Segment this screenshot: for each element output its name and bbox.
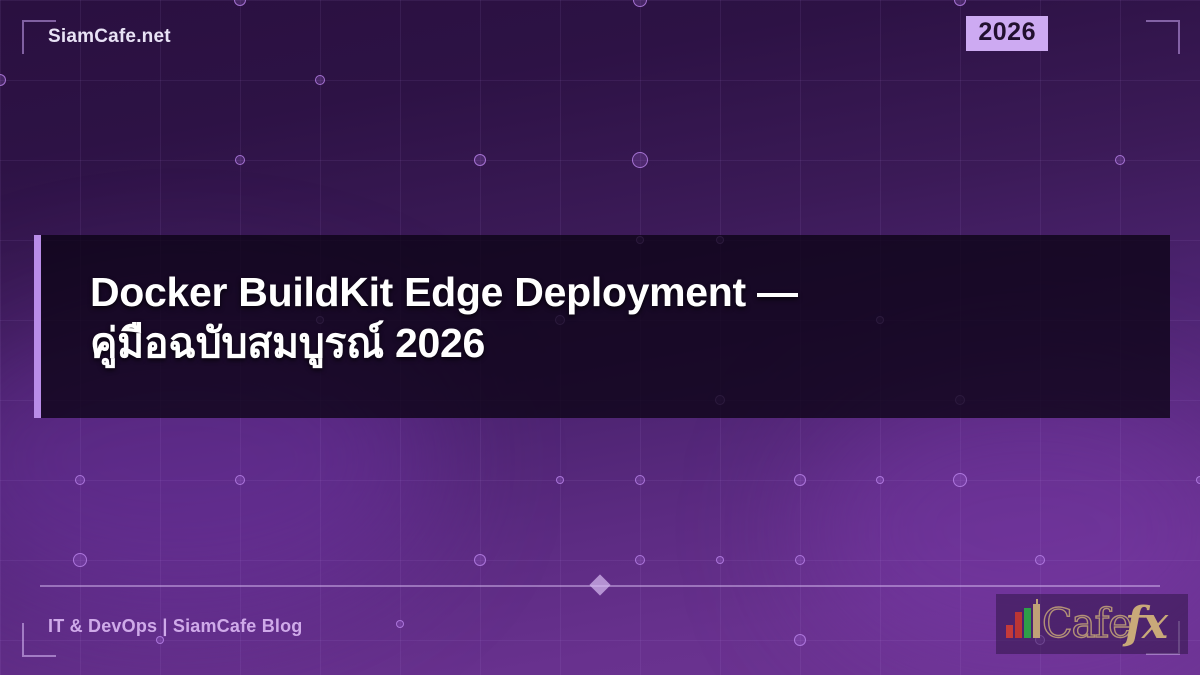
page-title: Docker BuildKit Edge Deployment — คู่มือ…: [90, 267, 1150, 370]
decor-dot: [635, 475, 645, 485]
diamond-marker-icon: [589, 574, 610, 595]
decor-dot: [1035, 555, 1045, 565]
candle-bar-gold: [1033, 604, 1040, 638]
candle-bar-red-small: [1006, 625, 1013, 638]
decor-dot: [556, 476, 564, 484]
decor-dot: [954, 0, 966, 6]
decor-dot: [716, 556, 724, 564]
brand-logo: Cafe fx: [996, 594, 1188, 654]
decor-dot: [876, 476, 884, 484]
decor-dot: [635, 555, 645, 565]
decor-dot: [0, 74, 6, 86]
decor-dot: [235, 475, 245, 485]
decor-dot: [794, 634, 806, 646]
decor-dot: [1196, 476, 1200, 484]
decor-dot: [315, 75, 325, 85]
footer-caption: IT & DevOps | SiamCafe Blog: [48, 616, 303, 637]
decor-dot: [953, 473, 967, 487]
decor-dot: [235, 155, 245, 165]
decor-dot: [794, 474, 806, 486]
corner-bracket-top-right: [1146, 20, 1180, 54]
title-band: Docker BuildKit Edge Deployment — คู่มือ…: [34, 235, 1170, 418]
decor-dot: [633, 0, 647, 7]
candlestick-chart-icon: [1004, 604, 1046, 644]
decor-dot: [474, 554, 486, 566]
decor-dot: [234, 0, 246, 6]
decor-dot: [156, 636, 164, 644]
candle-bar-green: [1024, 608, 1031, 638]
candle-wick: [1036, 599, 1038, 606]
social-card-canvas: SiamCafe.net 2026 Docker BuildKit Edge D…: [0, 0, 1200, 675]
year-badge: 2026: [966, 16, 1048, 51]
candle-bar-red: [1015, 612, 1022, 638]
decor-dot: [396, 620, 404, 628]
decor-dot: [73, 553, 87, 567]
decor-dot: [75, 475, 85, 485]
site-name: SiamCafe.net: [48, 26, 171, 48]
decor-dot: [1115, 155, 1125, 165]
decor-dot: [474, 154, 486, 166]
title-accent-bar: [34, 235, 41, 418]
decor-dot: [632, 152, 648, 168]
decor-dot: [795, 555, 805, 565]
brand-word: Cafe: [1042, 604, 1131, 644]
brand-suffix: fx: [1125, 602, 1166, 646]
